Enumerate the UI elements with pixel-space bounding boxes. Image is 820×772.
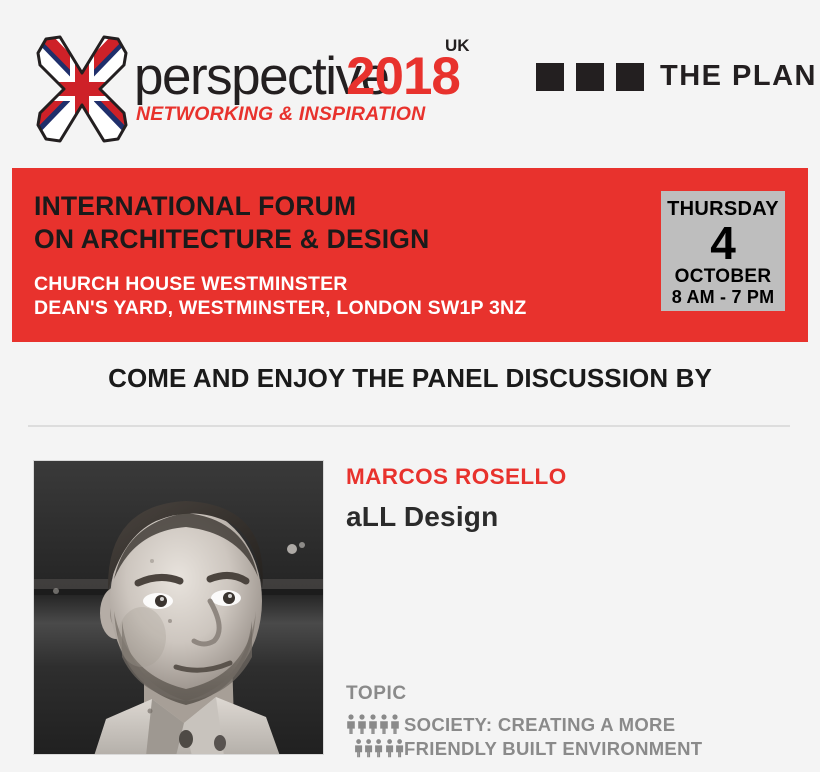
union-jack-x-mark-icon [30, 35, 134, 143]
topic-lines: SOCIETY: CREATING A MORE FRIENDLY BUILT … [346, 712, 790, 760]
logo-tagline: NETWORKING & INSPIRATION [136, 103, 425, 125]
person-icon [374, 738, 383, 758]
topic-line-1: SOCIETY: CREATING A MORE [346, 712, 790, 736]
people-icon-row-1 [346, 714, 404, 734]
person-icon [364, 738, 373, 758]
person-icon [395, 738, 404, 758]
people-icon-row-2 [346, 738, 404, 758]
page-header: perspective 2018 UK NETWORKING & INSPIRA… [0, 0, 820, 168]
person-icon [357, 714, 367, 734]
speaker-info: MARCOS ROSELLO aLL Design [346, 463, 790, 533]
plan-square-3 [616, 63, 644, 91]
person-icon [346, 714, 356, 734]
speaker-company: aLL Design [346, 500, 790, 533]
date-day-number: 4 [661, 219, 785, 267]
banner-title-line-1: INTERNATIONAL FORUM [34, 190, 526, 223]
logo-year: 2018 [346, 49, 460, 105]
section-divider [28, 425, 790, 427]
banner-venue-line-1: CHURCH HOUSE WESTMINSTER [34, 272, 526, 296]
perspective-logo[interactable]: perspective 2018 UK NETWORKING & INSPIRA… [30, 33, 450, 143]
logo-region: UK [445, 37, 470, 54]
topic-line-2: FRIENDLY BUILT ENVIRONMENT [346, 736, 790, 760]
person-icon [379, 714, 389, 734]
banner-text-block: INTERNATIONAL FORUM ON ARCHITECTURE & DE… [34, 190, 526, 320]
banner-venue-line-2: DEAN'S YARD, WESTMINSTER, LONDON SW1P 3N… [34, 296, 526, 320]
speaker-card: MARCOS ROSELLO aLL Design TOPIC SOCIETY:… [33, 460, 790, 755]
plan-square-1 [536, 63, 564, 91]
person-icon [368, 714, 378, 734]
logo-wordmark: perspective 2018 UK NETWORKING & INSPIRA… [134, 49, 454, 139]
topic-block: TOPIC SOCIETY: CREATING A MORE FRIENDLY … [346, 682, 790, 760]
the-plan-squares-icon [536, 63, 644, 91]
plan-square-2 [576, 63, 604, 91]
person-icon [390, 714, 400, 734]
date-month: OCTOBER [661, 266, 785, 287]
the-plan-label: THE PLAN [660, 62, 817, 91]
banner-title-line-2: ON ARCHITECTURE & DESIGN [34, 223, 526, 256]
topic-text-line-1: SOCIETY: CREATING A MORE [404, 713, 675, 736]
person-icon [354, 738, 363, 758]
panel-heading: COME AND ENJOY THE PANEL DISCUSSION BY [0, 362, 820, 394]
person-icon [385, 738, 394, 758]
topic-text-line-2: FRIENDLY BUILT ENVIRONMENT [404, 737, 702, 760]
speaker-portrait-photo [33, 460, 324, 755]
speaker-name: MARCOS ROSELLO [346, 463, 790, 490]
date-hours: 8 AM - 7 PM [661, 287, 785, 308]
event-date-badge: THURSDAY 4 OCTOBER 8 AM - 7 PM [661, 191, 785, 311]
topic-label: TOPIC [346, 682, 790, 705]
the-plan-logo[interactable]: THE PLAN [536, 62, 817, 91]
